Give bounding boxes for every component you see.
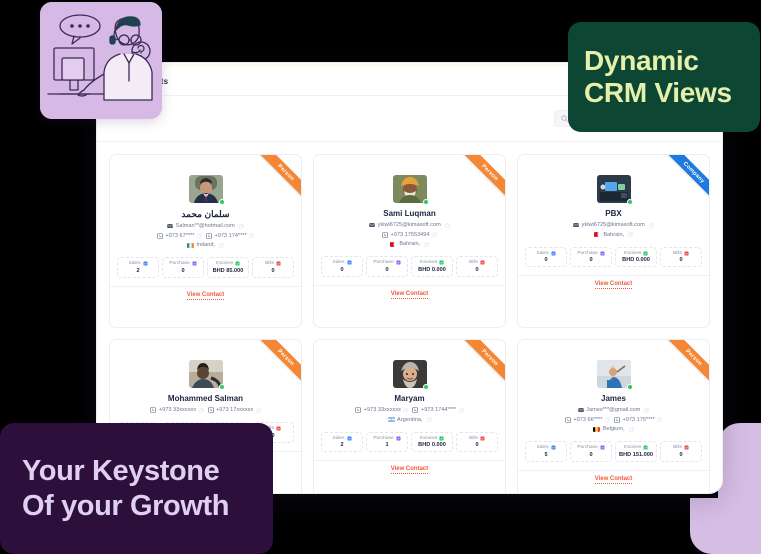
bills-icon [276, 426, 281, 431]
stat-header: Purchase [369, 260, 405, 265]
stat-bills[interactable]: Bills0 [660, 247, 702, 268]
avatar-image [597, 360, 631, 388]
avatar[interactable] [393, 175, 427, 203]
phone-value-group[interactable]: +973 33xxxxxx [355, 407, 408, 413]
stat-value: 5 [528, 452, 564, 458]
stat-label: Purchase [373, 436, 393, 441]
stat-purchase[interactable]: Purchase0 [570, 247, 612, 268]
country-row: Bahrain, [314, 241, 505, 247]
stat-value: 2 [324, 442, 360, 448]
avatar[interactable] [597, 175, 631, 203]
flag-icon-belgium [593, 427, 600, 432]
stat-label: Purchase [577, 445, 597, 450]
invoices-icon [439, 436, 444, 441]
phone-icon [412, 407, 418, 413]
view-contact-link[interactable]: View Contact [518, 470, 709, 488]
stat-value: BHD 0.000 [618, 257, 654, 263]
email-row: James***@gmail.com [518, 407, 709, 413]
contact-stats: Sales2Purchase1InvoicesBHD 0.000Bills0 [314, 432, 505, 453]
contact-type-ribbon: Person [241, 155, 301, 215]
phone-icon [206, 233, 212, 239]
country-row: Belgium, [518, 426, 709, 432]
stat-label: Invoices [624, 251, 642, 256]
stat-bills[interactable]: Bills0 [252, 257, 294, 278]
copy-icon[interactable] [239, 224, 244, 229]
phone-icon [208, 407, 214, 413]
copy-icon[interactable] [219, 243, 224, 248]
email-row: ykiwi6725@kimasoft.com [518, 222, 709, 228]
sales-icon [551, 445, 556, 450]
country-value-group[interactable]: Bahrain, [594, 232, 624, 238]
flag-icon-ireland [187, 243, 194, 248]
purchase-icon [600, 251, 605, 256]
stat-invoices[interactable]: InvoicesBHD 85.000 [207, 257, 249, 278]
phone-icon [382, 232, 388, 238]
view-contact-label: View Contact [595, 476, 633, 484]
stat-header: Sales [528, 445, 564, 450]
phone-row: +973 66****+973 175**** [518, 417, 709, 423]
avatar-image [393, 360, 427, 388]
online-status-dot [219, 384, 225, 390]
sales-icon [347, 436, 352, 441]
avatar-photo [393, 175, 427, 203]
stat-label: Invoices [624, 445, 642, 450]
copy-icon[interactable] [459, 408, 464, 413]
copy-icon[interactable] [644, 408, 649, 413]
country-value: Bahrain, [603, 232, 624, 238]
phone-value-group[interactable]: +973 33xxxxxx [150, 407, 203, 413]
avatar-photo [189, 360, 223, 388]
stat-sales[interactable]: Sales0 [321, 256, 363, 277]
avatar[interactable] [189, 360, 223, 388]
contact-card[interactable]: Personسلمان محمدSalman**@hotmail.com+973… [109, 154, 302, 328]
phone-row: +973 67****+973 174**** [110, 233, 301, 239]
view-contact-label: View Contact [391, 466, 429, 474]
phone-value-group[interactable]: +973 67**** [157, 233, 202, 239]
contact-stats: Sales2Purchase0InvoicesBHD 85.000Bills0 [110, 257, 301, 278]
stat-invoices[interactable]: InvoicesBHD 0.000 [411, 256, 453, 277]
stat-value: 0 [324, 267, 360, 273]
contact-type-ribbon: Person [649, 340, 709, 400]
ribbon-label: Person [660, 340, 709, 392]
stat-label: Bills [469, 260, 478, 265]
badge-purple-line2: Of your Growth [22, 489, 251, 524]
email-value-group[interactable]: ykiwi6725@kimasoft.com [573, 222, 645, 228]
phone-icon [614, 417, 620, 423]
country-value-group[interactable]: Belgium, [593, 426, 624, 432]
copy-icon[interactable] [197, 233, 202, 238]
phone-value: +973 66**** [573, 417, 602, 423]
phone-value-group[interactable]: +973 175**** [614, 417, 662, 423]
copy-icon[interactable] [605, 417, 610, 422]
email-row: Salman**@hotmail.com [110, 223, 301, 229]
contact-card[interactable]: PersonSami Luqmanykiwi6725@kimasoft.com+… [313, 154, 506, 328]
stat-value: BHD 0.000 [414, 267, 450, 273]
purchase-icon [192, 261, 197, 266]
email-value: ykiwi6725@kimasoft.com [582, 222, 645, 228]
phone-value: +973 33xxxxxx [159, 407, 196, 413]
copy-icon[interactable] [657, 417, 662, 422]
stat-header: Bills [459, 436, 495, 441]
email-value-group[interactable]: James***@gmail.com [578, 407, 641, 413]
stat-header: Sales [120, 261, 156, 266]
country-row: Ireland, [110, 242, 301, 248]
phone-icon [565, 417, 571, 423]
phone-value: +973 17553494 [390, 232, 429, 238]
email-icon [369, 222, 375, 228]
avatar-image [393, 175, 427, 203]
email-icon [573, 222, 579, 228]
copy-icon[interactable] [256, 408, 261, 413]
stat-bills[interactable]: Bills0 [660, 441, 702, 462]
stat-value: 1 [369, 442, 405, 448]
purchase-icon [396, 436, 401, 441]
stat-label: Sales [333, 260, 345, 265]
copy-icon[interactable] [432, 232, 437, 237]
phone-value-group[interactable]: +973 17553494 [382, 232, 437, 238]
email-value-group[interactable]: Salman**@hotmail.com [167, 223, 235, 229]
contact-type-ribbon: Person [445, 155, 505, 215]
avatar[interactable] [393, 360, 427, 388]
stat-value: BHD 151.000 [618, 452, 654, 458]
badge-green-line2: CRM Views [584, 77, 744, 109]
stat-header: Bills [663, 445, 699, 450]
email-value-group[interactable]: ykiwi6725@kimasoft.com [369, 222, 441, 228]
phone-value-group[interactable]: +973 66**** [565, 417, 610, 423]
invoices-icon [643, 445, 648, 450]
stat-header: Purchase [573, 445, 609, 450]
stat-value: 0 [459, 267, 495, 273]
country-value: Ireland, [196, 242, 215, 248]
copy-icon[interactable] [629, 427, 634, 432]
invoices-icon [235, 261, 240, 266]
stat-purchase[interactable]: Purchase1 [366, 432, 408, 453]
stat-bills[interactable]: Bills0 [456, 256, 498, 277]
email-icon [578, 407, 584, 413]
badge-purple-line1: Your Keystone [22, 454, 251, 489]
country-value: Bahrain, [399, 241, 420, 247]
email-icon [167, 223, 173, 229]
copy-icon[interactable] [427, 417, 432, 422]
view-contact-link[interactable]: View Contact [518, 275, 709, 293]
stat-value: 0 [255, 268, 291, 274]
bills-icon [480, 436, 485, 441]
stat-header: Bills [459, 260, 495, 265]
stat-header: Purchase [573, 251, 609, 256]
country-value: Argentina, [397, 417, 423, 423]
stat-label: Invoices [420, 260, 438, 265]
sales-icon [347, 260, 352, 265]
phone-value: +973 33xxxxxx [364, 407, 401, 413]
badge-green-line1: Dynamic [584, 45, 744, 77]
phone-row: +973 33xxxxxx+973 17xxxxxx [110, 407, 301, 413]
avatar-photo [597, 175, 631, 203]
contact-stats: Sales0Purchase0InvoicesBHD 0.000Bills0 [518, 247, 709, 268]
illustration-artwork [40, 2, 162, 119]
country-value: Belgium, [603, 426, 625, 432]
ribbon-label: Person [252, 340, 301, 392]
online-status-dot [627, 384, 633, 390]
stat-header: Sales [324, 260, 360, 265]
stat-label: Invoices [216, 261, 234, 266]
phone-icon [157, 233, 163, 239]
flag-icon-argentina [388, 417, 395, 422]
ribbon-label: Company [660, 155, 709, 207]
phone-value-group[interactable]: +973 1744**** [412, 407, 463, 413]
contact-stats: Sales5Purchase0InvoicesBHD 151.000Bills0 [518, 441, 709, 462]
support-agent-illustration [40, 2, 162, 119]
phone-value-group[interactable]: +973 174**** [206, 233, 254, 239]
email-value: Salman**@hotmail.com [176, 223, 235, 229]
contact-type-ribbon: Person [241, 340, 301, 400]
stat-sales[interactable]: Sales5 [525, 441, 567, 462]
view-contact-link[interactable]: View Contact [314, 460, 505, 478]
contact-type-ribbon: Person [445, 340, 505, 400]
contact-type-ribbon: Company [649, 155, 709, 215]
stat-value: 0 [459, 442, 495, 448]
stat-label: Invoices [420, 436, 438, 441]
online-status-dot [423, 384, 429, 390]
copy-icon[interactable] [249, 233, 254, 238]
stat-header: Bills [663, 251, 699, 256]
contact-card[interactable]: PersonMaryam+973 33xxxxxx+973 1744****Ar… [313, 339, 506, 494]
stat-label: Purchase [169, 261, 189, 266]
badge-dynamic-crm-views: Dynamic CRM Views [568, 22, 760, 132]
invoices-icon [643, 251, 648, 256]
avatar[interactable] [189, 175, 223, 203]
stat-sales[interactable]: Sales0 [525, 247, 567, 268]
stat-header: Invoices [210, 261, 246, 266]
stat-purchase[interactable]: Purchase0 [570, 441, 612, 462]
copy-icon[interactable] [424, 242, 429, 247]
view-contact-label: View Contact [187, 292, 225, 300]
stat-value: 0 [165, 268, 201, 274]
stat-value: 0 [663, 257, 699, 263]
ribbon-label: Person [456, 340, 505, 392]
phone-value: +973 67**** [165, 233, 194, 239]
stat-header: Bills [255, 261, 291, 266]
avatar-photo [393, 360, 427, 388]
ribbon-label: Person [456, 155, 505, 207]
view-contact-label: View Contact [595, 281, 633, 289]
stat-header: Purchase [369, 436, 405, 441]
online-status-dot [423, 199, 429, 205]
online-status-dot [219, 199, 225, 205]
stat-header: Invoices [414, 260, 450, 265]
stat-header: Invoices [618, 445, 654, 450]
purchase-icon [396, 260, 401, 265]
view-contact-link[interactable]: View Contact [314, 285, 505, 303]
country-value-group[interactable]: Bahrain, [390, 241, 420, 247]
stat-header: Sales [528, 251, 564, 256]
stat-header: Sales [324, 436, 360, 441]
stat-value: 0 [573, 257, 609, 263]
stat-label: Sales [333, 436, 345, 441]
invoices-icon [439, 260, 444, 265]
screenshot-root: / Contacts Personسلمان محمدSalman**@hotm… [0, 0, 761, 554]
country-row: Bahrain, [518, 232, 709, 238]
avatar-photo [189, 175, 223, 203]
phone-row: +973 33xxxxxx+973 1744**** [314, 407, 505, 413]
stat-value: 0 [369, 267, 405, 273]
phone-icon [355, 407, 361, 413]
stat-label: Bills [265, 261, 274, 266]
ribbon-label: Person [252, 155, 301, 207]
phone-value: +973 1744**** [421, 407, 456, 413]
avatar-image [189, 360, 223, 388]
phone-icon [150, 407, 156, 413]
email-value: ykiwi6725@kimasoft.com [378, 222, 441, 228]
online-status-dot [627, 199, 633, 205]
bills-icon [276, 261, 281, 266]
stat-value: 2 [120, 268, 156, 274]
phone-value: +973 174**** [214, 233, 246, 239]
sales-icon [551, 251, 556, 256]
phone-value: +973 17xxxxxx [216, 407, 253, 413]
copy-icon[interactable] [199, 408, 204, 413]
contact-card[interactable]: PersonJamesJames***@gmail.com+973 66****… [517, 339, 710, 494]
stat-header: Invoices [618, 251, 654, 256]
stat-invoices[interactable]: InvoicesBHD 0.000 [615, 247, 657, 268]
stat-invoices[interactable]: InvoicesBHD 0.000 [411, 432, 453, 453]
bills-icon [480, 260, 485, 265]
view-contact-link[interactable]: View Contact [110, 286, 301, 304]
contact-card[interactable]: CompanyPBXykiwi6725@kimasoft.comBahrain,… [517, 154, 710, 328]
stat-value: BHD 85.000 [210, 268, 246, 274]
stat-purchase[interactable]: Purchase0 [162, 257, 204, 278]
stat-sales[interactable]: Sales2 [321, 432, 363, 453]
bills-icon [684, 251, 689, 256]
stat-value: 0 [663, 452, 699, 458]
stat-label: Purchase [577, 251, 597, 256]
sales-icon [143, 261, 148, 266]
copy-icon[interactable] [649, 223, 654, 228]
stat-sales[interactable]: Sales2 [117, 257, 159, 278]
flag-icon-bahrain [594, 232, 601, 237]
flag-icon-bahrain [390, 242, 397, 247]
stat-bills[interactable]: Bills0 [456, 432, 498, 453]
avatar-photo [597, 360, 631, 388]
stat-label: Sales [537, 445, 549, 450]
stat-value: BHD 0.000 [414, 442, 450, 448]
email-value: James***@gmail.com [586, 407, 640, 413]
stat-purchase[interactable]: Purchase0 [366, 256, 408, 277]
stat-label: Purchase [373, 260, 393, 265]
phone-value-group[interactable]: +973 17xxxxxx [208, 407, 261, 413]
stat-label: Bills [673, 445, 682, 450]
country-value-group[interactable]: Argentina, [388, 417, 423, 423]
stat-invoices[interactable]: InvoicesBHD 151.000 [615, 441, 657, 462]
stat-label: Sales [537, 251, 549, 256]
stat-value: 0 [528, 257, 564, 263]
stat-label: Bills [673, 251, 682, 256]
copy-icon[interactable] [445, 223, 450, 228]
lavender-decoration-shape-lower [690, 498, 761, 554]
stat-value: 0 [573, 452, 609, 458]
avatar-image [189, 175, 223, 203]
purchase-icon [600, 445, 605, 450]
stat-header: Invoices [414, 436, 450, 441]
email-row: ykiwi6725@kimasoft.com [314, 222, 505, 228]
country-value-group[interactable]: Ireland, [187, 242, 215, 248]
avatar-image [597, 175, 631, 203]
copy-icon[interactable] [403, 408, 408, 413]
search-icon [561, 115, 568, 122]
country-row: Argentina, [314, 417, 505, 423]
badge-your-keystone: Your Keystone Of your Growth [0, 423, 273, 554]
copy-icon[interactable] [628, 232, 633, 237]
avatar[interactable] [597, 360, 631, 388]
view-contact-label: View Contact [391, 291, 429, 299]
phone-value: +973 175**** [622, 417, 654, 423]
stat-header: Purchase [165, 261, 201, 266]
contact-stats: Sales0Purchase0InvoicesBHD 0.000Bills0 [314, 256, 505, 277]
bills-icon [684, 445, 689, 450]
phone-row: +973 17553494 [314, 232, 505, 238]
stat-label: Bills [469, 436, 478, 441]
stat-label: Sales [129, 261, 141, 266]
